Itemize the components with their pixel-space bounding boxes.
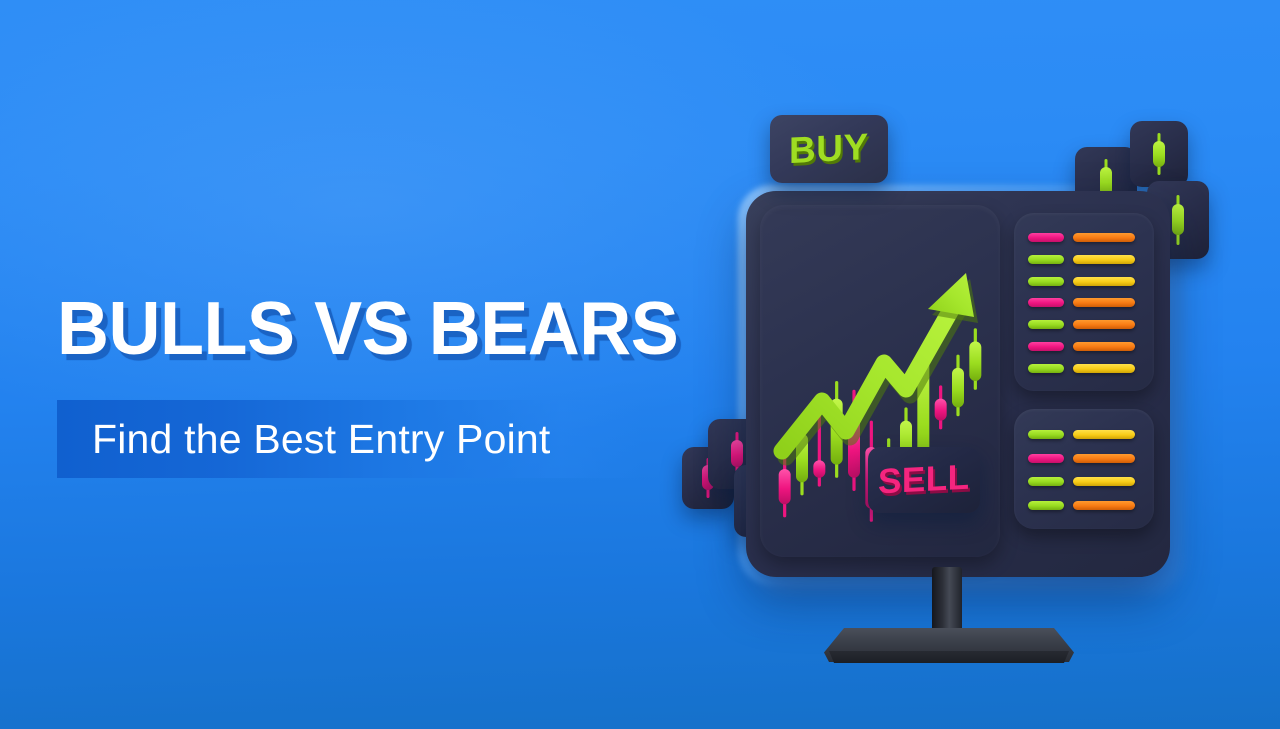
monitor-body [746, 191, 1170, 577]
data-panel-bottom [1014, 409, 1154, 529]
buy-tag-label: BUY [789, 126, 869, 172]
data-pill-long [1073, 320, 1135, 329]
monitor-stand-base-edge [824, 651, 1074, 663]
subtitle-text: Find the Best Entry Point [57, 416, 551, 463]
mini-candlestick-icon [1153, 133, 1165, 175]
data-row [1028, 454, 1142, 463]
data-row [1028, 430, 1142, 439]
data-pill-short [1028, 255, 1064, 264]
data-pill-long [1073, 233, 1135, 242]
data-pill-short [1028, 342, 1064, 351]
data-pill-long [1073, 430, 1135, 439]
subtitle-band: Find the Best Entry Point [57, 400, 643, 478]
page-title: BULLS VS BEARS [57, 292, 671, 365]
data-row [1028, 277, 1142, 286]
data-panel-top [1014, 213, 1154, 391]
data-pill-short [1028, 477, 1064, 486]
candle-body [779, 469, 791, 504]
data-panel-top-rows [1028, 227, 1142, 379]
mini-candle-body [1172, 204, 1184, 235]
data-pill-long [1073, 298, 1135, 307]
trend-arrow-icon [782, 273, 978, 457]
sell-tag-label: SELL [878, 458, 969, 503]
data-panel-bottom-rows [1028, 423, 1142, 517]
data-pill-short [1028, 233, 1064, 242]
data-pill-long [1073, 454, 1135, 463]
mini-candle-body [731, 440, 743, 467]
data-pill-short [1028, 298, 1064, 307]
data-pill-short [1028, 277, 1064, 286]
data-pill-short [1028, 364, 1064, 373]
monitor-stand-neck [932, 567, 962, 637]
data-pill-long [1073, 364, 1135, 373]
data-row [1028, 298, 1142, 307]
sell-tag[interactable]: SELL [868, 447, 980, 513]
data-row [1028, 342, 1142, 351]
mini-candlestick-icon [1172, 195, 1184, 245]
data-row [1028, 320, 1142, 329]
data-row [1028, 233, 1142, 242]
data-pill-long [1073, 255, 1135, 264]
data-pill-long [1073, 501, 1135, 510]
data-row [1028, 364, 1142, 373]
candle-body [952, 368, 964, 408]
data-pill-short [1028, 501, 1064, 510]
data-pill-short [1028, 430, 1064, 439]
candle-body [935, 399, 947, 421]
data-pill-long [1073, 477, 1135, 486]
headline-block: BULLS VS BEARS Find the Best Entry Point [57, 292, 697, 365]
buy-tag[interactable]: BUY [770, 115, 888, 183]
data-pill-short [1028, 320, 1064, 329]
promo-banner: BULLS VS BEARS Find the Best Entry Point [0, 0, 1280, 729]
candle-body [813, 460, 825, 478]
data-row [1028, 501, 1142, 510]
data-pill-long [1073, 277, 1135, 286]
data-pill-long [1073, 342, 1135, 351]
data-row [1028, 255, 1142, 264]
trading-monitor-illustration: BUY SELL [660, 95, 1260, 635]
data-row [1028, 477, 1142, 486]
data-pill-short [1028, 454, 1064, 463]
candle-body [969, 341, 981, 381]
mini-card-top-2 [1130, 121, 1188, 187]
mini-candle-body [1153, 141, 1165, 167]
